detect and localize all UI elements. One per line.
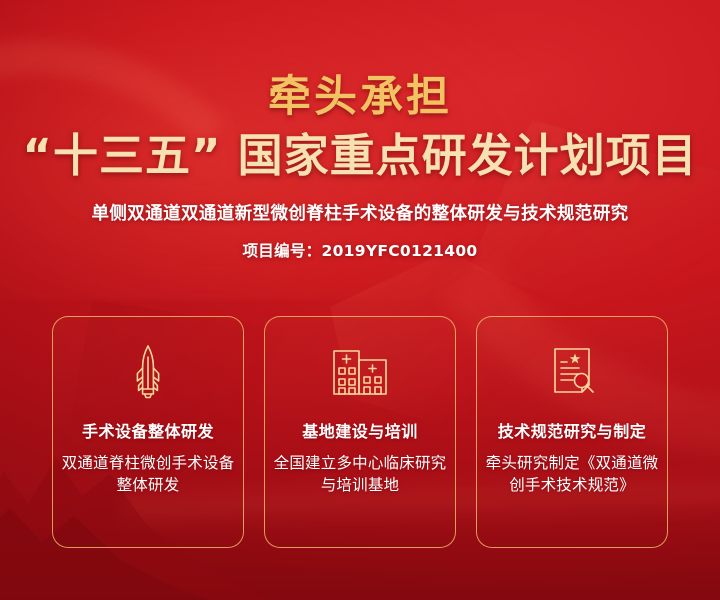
- card-technical-standards[interactable]: 技术规范研究与制定 牵头研究制定《双通道微创手术技术规范》: [476, 316, 668, 548]
- rocket-icon: [125, 343, 171, 399]
- certificate-search-icon: [546, 343, 598, 399]
- project-number: 项目编号：2019YFC0121400: [0, 239, 720, 261]
- card-title: 技术规范研究与制定: [498, 418, 647, 442]
- poster-header: 牵头承担 “十三五”国家重点研发计划项目 单侧双通道双通道新型微创脊柱手术设备的…: [0, 0, 720, 261]
- card-equipment-rnd[interactable]: 手术设备整体研发 双通道脊柱微创手术设备整体研发: [52, 316, 244, 548]
- title-program-name: 国家重点研发计划项目: [238, 129, 698, 182]
- poster-canvas: 牵头承担 “十三五”国家重点研发计划项目 单侧双通道双通道新型微创脊柱手术设备的…: [0, 0, 720, 600]
- card-body: 全国建立多中心临床研究与培训基地: [265, 452, 455, 497]
- card-title: 基地建设与培训: [302, 418, 418, 442]
- card-body: 双通道脊柱微创手术设备整体研发: [53, 452, 243, 497]
- poster-subtitle: 单侧双通道双通道新型微创脊柱手术设备的整体研发与技术规范研究: [0, 200, 720, 225]
- card-list: 手术设备整体研发 双通道脊柱微创手术设备整体研发: [52, 316, 668, 548]
- title-plan-period: “十三五”: [22, 129, 221, 182]
- card-base-construction-training[interactable]: 基地建设与培训 全国建立多中心临床研究与培训基地: [264, 316, 456, 548]
- title-line-2: “十三五”国家重点研发计划项目: [0, 133, 720, 178]
- hospital-building-icon: [331, 343, 389, 399]
- card-body: 牵头研究制定《双通道微创手术技术规范》: [477, 452, 667, 497]
- card-title: 手术设备整体研发: [82, 418, 214, 442]
- title-line-1: 牵头承担: [0, 76, 720, 119]
